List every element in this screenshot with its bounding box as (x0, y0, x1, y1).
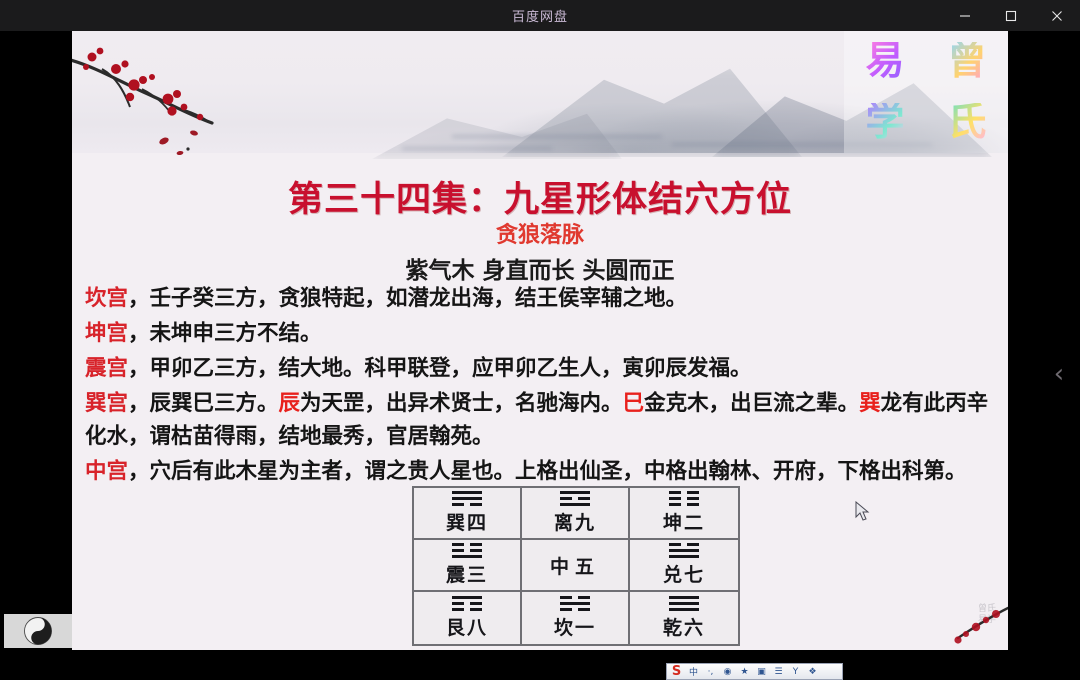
paragraph-zhen-text: ，甲卯乙三方，结大地。科甲联登，应甲卯乙生人，寅卯辰发福。 (128, 356, 752, 381)
logo-char-shi: 氏 (947, 103, 986, 142)
luoshu-cell-li: 离九 (522, 488, 630, 540)
collapse-panel-chevron-icon[interactable]: ‹ (1048, 356, 1070, 392)
ime-globe-icon[interactable]: ◉ (720, 665, 735, 679)
luoshu-label-center: 中五 (550, 552, 600, 579)
luoshu-label-gen: 艮八 (446, 613, 488, 640)
luoshu-bagua-grid: 巽四 离九 坤二 震三 中五 (412, 486, 740, 646)
palace-label-kan: 坎宫 (85, 286, 128, 311)
paragraph-zhong-text: ，穴后有此木星为主者，谓之贵人星也。上格出仙圣，中格出翰林、开府，下格出科第。 (128, 459, 967, 484)
paragraph-xun: 巽宫，辰巽巳三方。辰为天罡，出异术贤士，名驰海内。巳金克木，出巨流之辈。巽龙有此… (85, 387, 1003, 453)
ime-star-icon[interactable]: ★ (737, 665, 752, 679)
luoshu-label-kan: 坎一 (554, 613, 596, 640)
slide-main-title: 第三十四集：九星形体结穴方位 (72, 171, 1008, 222)
luoshu-cell-zhen: 震三 (414, 540, 522, 592)
minimize-button[interactable] (942, 0, 988, 31)
luoshu-label-li: 离九 (554, 508, 596, 535)
ime-keyboard-icon[interactable]: ▣ (754, 665, 769, 679)
luoshu-cell-kan: 坎一 (522, 592, 630, 644)
maximize-icon (1005, 10, 1017, 22)
logo-char-zeng: 曾 (947, 42, 986, 81)
luoshu-cell-gen: 艮八 (414, 592, 522, 644)
taiji-thumbnail[interactable] (4, 614, 72, 648)
ink-wash-banner-image: 易 曾 学 氏 (72, 31, 1008, 153)
ime-toolbox-icon[interactable]: Y (788, 665, 803, 679)
paragraph-kun-text: ，未坤申三方不结。 (128, 321, 322, 346)
plum-blossom-branch-icon (72, 37, 322, 157)
luoshu-cell-center: 中五 (522, 540, 630, 592)
window-controls (942, 0, 1080, 31)
paragraph-xun-text-2: 为天罡，出异术贤士，名驰海内。 (300, 391, 623, 416)
logo-char-yi: 易 (865, 42, 904, 81)
luoshu-label-dui: 兑七 (663, 560, 705, 587)
close-button[interactable] (1034, 0, 1080, 31)
slide-tagline: 紫气木 身直而长 头圆而正 (72, 251, 1008, 285)
ime-settings-icon[interactable]: ❖ (805, 665, 820, 679)
minimize-icon (959, 10, 971, 22)
slide-subtitle: 贪狼落脉 (72, 217, 1008, 249)
trigram-li-icon (560, 491, 590, 507)
plum-blossom-corner-icon (888, 600, 1008, 650)
paragraph-zhong: 中宫，穴后有此木星为主者，谓之贵人星也。上格出仙圣，中格出翰林、开府，下格出科第… (85, 455, 1003, 488)
luoshu-label-kun: 坤二 (663, 508, 705, 535)
palace-label-zhen: 震宫 (85, 356, 128, 381)
highlight-chen: 辰 (279, 391, 301, 416)
sogou-ime-toolbar[interactable]: S 中 ·, ◉ ★ ▣ ☰ Y ❖ (666, 663, 843, 680)
water-line (402, 147, 552, 150)
close-icon (1051, 10, 1063, 22)
luoshu-cell-kun: 坤二 (630, 488, 738, 540)
paragraph-zhen: 震宫，甲卯乙三方，结大地。科甲联登，应甲卯乙生人，寅卯辰发福。 (85, 352, 1003, 385)
luoshu-cell-qian: 乾六 (630, 592, 738, 644)
paragraph-xun-text-1: ，辰巽巳三方。 (128, 391, 279, 416)
luoshu-cell-xun: 巽四 (414, 488, 522, 540)
trigram-kan-icon (560, 596, 590, 612)
yin-yang-icon (23, 616, 53, 646)
water-line (452, 135, 662, 138)
paragraph-kun: 坤宫，未坤申三方不结。 (85, 317, 1003, 350)
slide-body-text: 坎宫，壬子癸三方，贪狼特起，如潜龙出海，结王侯宰辅之地。 坤宫，未坤申三方不结。… (85, 282, 1003, 490)
logo-char-xue: 学 (865, 103, 904, 142)
paragraph-kan-text: ，壬子癸三方，贪狼特起，如潜龙出海，结王侯宰辅之地。 (128, 286, 687, 311)
trigram-xun-icon (452, 491, 482, 507)
mouse-cursor (855, 501, 871, 523)
ime-menu-icon[interactable]: ☰ (771, 665, 786, 679)
sogou-logo-icon[interactable]: S (669, 665, 684, 679)
slide-content: 易 曾 学 氏 第三十四集：九星形体结穴方位 贪狼落脉 紫气木 身直而长 头圆而… (72, 31, 1008, 650)
luoshu-label-xun: 巽四 (446, 508, 488, 535)
palace-label-xun: 巽宫 (85, 391, 128, 416)
luoshu-cell-dui: 兑七 (630, 540, 738, 592)
palace-label-kun: 坤宫 (85, 321, 128, 346)
maximize-button[interactable] (988, 0, 1034, 31)
paragraph-kan: 坎宫，壬子癸三方，贪狼特起，如潜龙出海，结王侯宰辅之地。 (85, 282, 1003, 315)
trigram-kun-icon (669, 491, 699, 507)
logo-watermark: 易 曾 学 氏 (844, 31, 1008, 153)
trigram-dui-icon (669, 543, 699, 559)
highlight-si: 巳 (623, 391, 645, 416)
trigram-zhen-icon (452, 543, 482, 559)
trigram-gen-icon (452, 596, 482, 612)
paragraph-xun-text-3: 金克木，出巨流之辈。 (644, 391, 859, 416)
window-title: 百度网盘 (512, 6, 568, 25)
luoshu-label-qian: 乾六 (663, 613, 705, 640)
trigram-qian-icon (669, 596, 699, 612)
palace-label-zhong: 中宫 (85, 459, 128, 484)
video-player-area[interactable]: 易 曾 学 氏 第三十四集：九星形体结穴方位 贪狼落脉 紫气木 身直而长 头圆而… (0, 31, 1080, 650)
luoshu-label-zhen: 震三 (446, 560, 488, 587)
ime-mode-icon[interactable]: 中 (686, 665, 701, 679)
highlight-xun: 巽 (859, 391, 881, 416)
window-titlebar[interactable]: 百度网盘 (0, 0, 1080, 31)
ime-punctuation-icon[interactable]: ·, (703, 665, 718, 679)
